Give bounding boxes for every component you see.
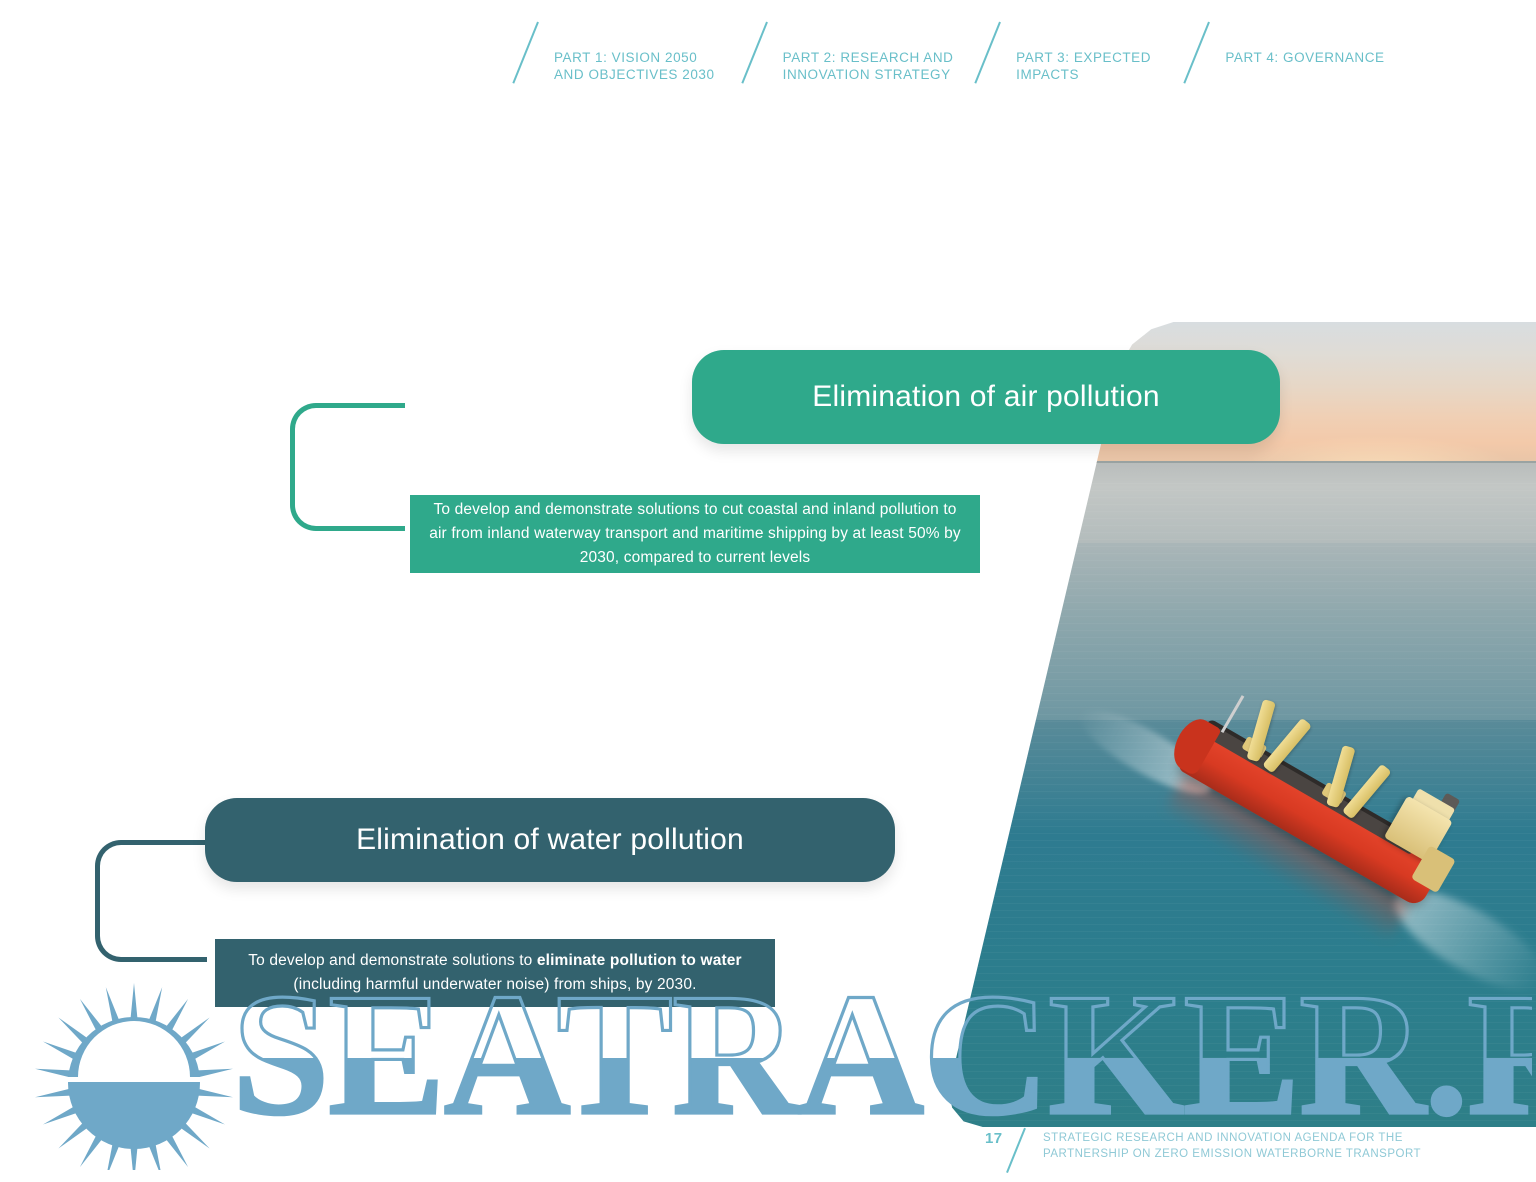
nav-item-part-1[interactable]: PART 1: VISION 2050 AND OBJECTIVES 2030 [554, 20, 749, 83]
nav-item-part-2[interactable]: PART 2: RESEARCH AND INNOVATION STRATEGY [783, 20, 983, 83]
page-number: 17 [985, 1128, 1011, 1147]
header-navigation: PART 1: VISION 2050 AND OBJECTIVES 2030 … [520, 20, 1420, 100]
title-pill-air-pollution[interactable]: Elimination of air pollution [692, 350, 1280, 444]
title-text-water: Elimination of water pollution [356, 823, 744, 857]
footer-title-text: STRATEGIC RESEARCH AND INNOVATION AGENDA… [1043, 1128, 1421, 1162]
body-text-air: To develop and demonstrate solutions to … [426, 498, 964, 570]
nav-item-part-3[interactable]: PART 3: EXPECTED IMPACTS [1016, 20, 1191, 83]
page-footer: 17 STRATEGIC RESEARCH AND INNOVATION AGE… [985, 1128, 1455, 1174]
bracket-connector-water [95, 840, 207, 962]
bracket-connector-air [290, 403, 405, 531]
card-air-pollution: Elimination of air pollution To develop … [290, 350, 1000, 580]
nav-separator-slash-1 [520, 20, 554, 82]
title-pill-water-pollution[interactable]: Elimination of water pollution [205, 798, 895, 882]
foremast [1221, 695, 1245, 733]
footer-separator-slash [1011, 1128, 1043, 1172]
nav-separator-slash-2 [749, 20, 783, 82]
nav-separator-slash-3 [982, 20, 1016, 82]
title-text-air: Elimination of air pollution [812, 380, 1159, 414]
nav-item-part-4[interactable]: PART 4: GOVERNANCE [1225, 20, 1420, 66]
body-text-water: To develop and demonstrate solutions to … [231, 949, 759, 997]
nav-separator-slash-4 [1191, 20, 1225, 82]
card-water-pollution: Elimination of water pollution To develo… [95, 798, 805, 1018]
body-box-water-pollution: To develop and demonstrate solutions to … [215, 939, 775, 1007]
body-box-air-pollution: To develop and demonstrate solutions to … [410, 495, 980, 573]
